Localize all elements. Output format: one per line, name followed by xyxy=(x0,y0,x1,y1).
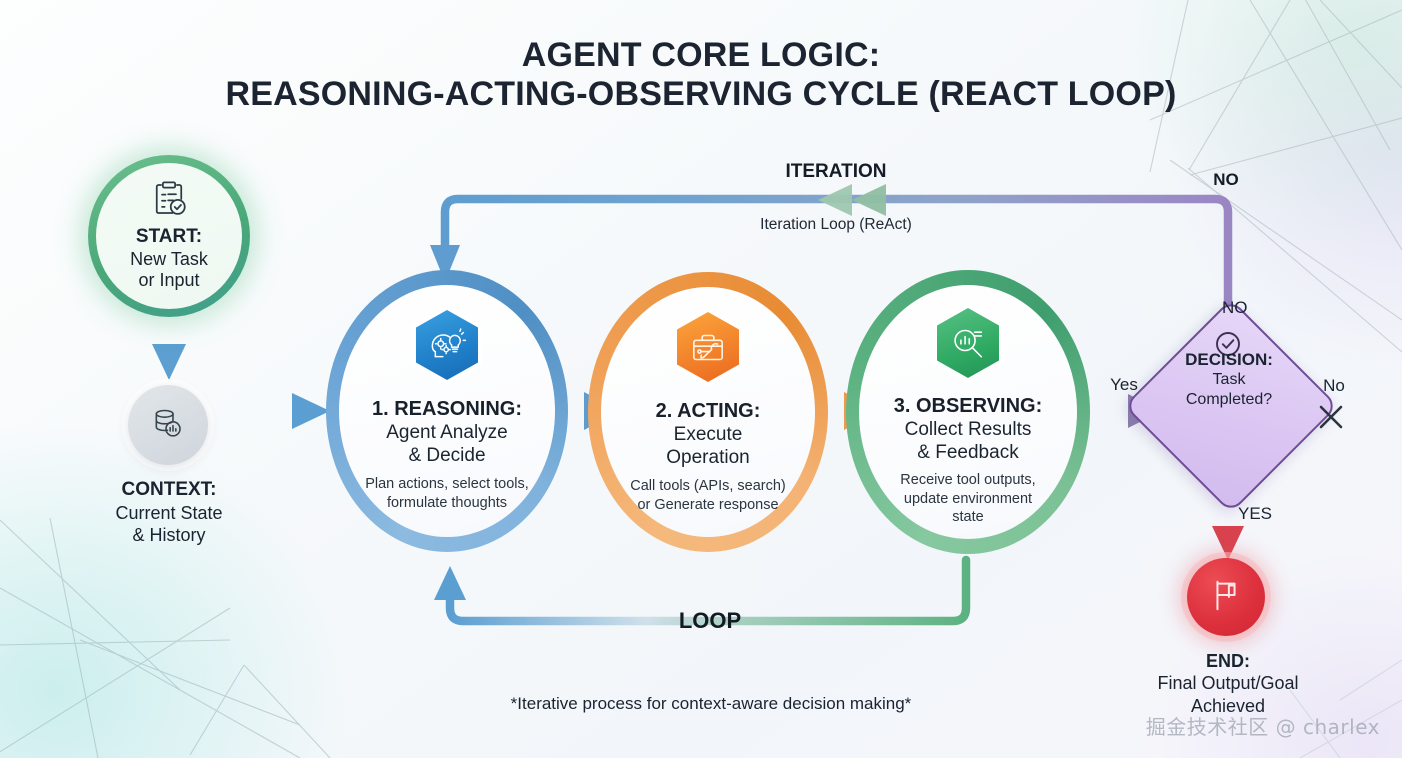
reasoning-desc-1: Plan actions, select tools, xyxy=(365,475,529,494)
no-right-label: No xyxy=(1305,376,1363,396)
acting-title: 2. ACTING: xyxy=(656,399,761,423)
acting-sub-2: Operation xyxy=(666,446,749,469)
context-line-1: Current State xyxy=(28,502,310,525)
context-line-2: & History xyxy=(28,524,310,547)
end-node-caption: END: Final Output/Goal Achieved xyxy=(1098,650,1358,717)
decision-heading: DECISION: xyxy=(1145,350,1313,370)
observing-sub-2: & Feedback xyxy=(917,441,1018,464)
acting-desc-2: or Generate response xyxy=(637,496,778,515)
context-node-caption: CONTEXT: Current State & History xyxy=(28,478,310,547)
clipboard-check-icon xyxy=(148,178,190,225)
iteration-sublabel: Iteration Loop (ReAct) xyxy=(700,216,972,234)
flag-icon xyxy=(1207,576,1245,619)
watermark: 掘金技术社区 @ charlex xyxy=(1080,711,1380,740)
acting-icon-frame xyxy=(672,307,744,387)
stage-reasoning[interactable]: 1. REASONING: Agent Analyze & Decide Pla… xyxy=(326,270,568,552)
footer-note: *Iterative process for context-aware dec… xyxy=(401,694,1021,714)
context-node[interactable] xyxy=(128,385,208,465)
magnifier-chart-icon xyxy=(937,308,999,378)
no-top-label: NO xyxy=(1178,170,1274,190)
yes-left-label: Yes xyxy=(1095,375,1153,395)
context-heading: CONTEXT: xyxy=(28,478,310,502)
observing-title: 3. OBSERVING: xyxy=(894,394,1043,418)
stage-observing[interactable]: 3. OBSERVING: Collect Results & Feedback… xyxy=(846,270,1090,554)
iteration-label: ITERATION xyxy=(720,161,952,183)
x-cross-icon xyxy=(1316,402,1346,437)
observing-sub-1: Collect Results xyxy=(905,418,1032,441)
no-mid-label: NO xyxy=(1222,298,1294,318)
start-node-label: START: New Task or Input xyxy=(130,226,208,292)
loop-label: LOOP xyxy=(610,608,810,634)
reasoning-title: 1. REASONING: xyxy=(372,397,522,421)
start-heading: START: xyxy=(130,226,208,249)
observing-desc-3: state xyxy=(952,508,983,527)
end-line-1: Final Output/Goal xyxy=(1098,672,1358,694)
reasoning-ring-face: 1. REASONING: Agent Analyze & Decide Pla… xyxy=(339,285,555,537)
title-line-2: REASONING-ACTING-OBSERVING CYCLE (REACT … xyxy=(0,75,1402,114)
acting-desc-1: Call tools (APIs, search) xyxy=(630,477,786,496)
acting-sub-1: Execute xyxy=(674,423,743,446)
observing-ring-face: 3. OBSERVING: Collect Results & Feedback… xyxy=(859,285,1077,539)
reasoning-desc-2: formulate thoughts xyxy=(387,494,507,513)
toolbox-wrench-icon xyxy=(677,312,739,382)
start-line-1: New Task xyxy=(130,249,208,271)
reasoning-sub-2: & Decide xyxy=(408,444,485,467)
decision-line-1: Task xyxy=(1145,370,1313,389)
observing-desc-1: Receive tool outputs, xyxy=(900,471,1035,490)
yes-bottom-label: YES xyxy=(1238,504,1302,524)
decision-line-2: Completed? xyxy=(1145,390,1313,409)
page-title: AGENT CORE LOGIC: REASONING-ACTING-OBSER… xyxy=(0,36,1402,115)
database-analytics-icon xyxy=(148,403,188,448)
stage-acting[interactable]: 2. ACTING: Execute Operation Call tools … xyxy=(588,272,828,552)
observing-icon-frame xyxy=(932,303,1004,383)
start-line-2: or Input xyxy=(130,270,208,292)
acting-ring-face: 2. ACTING: Execute Operation Call tools … xyxy=(601,287,815,537)
reasoning-icon-frame xyxy=(411,305,483,385)
reasoning-sub-1: Agent Analyze xyxy=(386,421,507,444)
observing-desc-2: update environment xyxy=(904,490,1032,509)
title-line-1: AGENT CORE LOGIC: xyxy=(0,36,1402,75)
diagram-canvas: AGENT CORE LOGIC: REASONING-ACTING-OBSER… xyxy=(0,0,1402,758)
decision-label: DECISION: Task Completed? xyxy=(1145,350,1313,409)
start-node[interactable]: START: New Task or Input xyxy=(88,155,250,317)
brain-head-gear-bulb-icon xyxy=(416,310,478,380)
end-node[interactable] xyxy=(1187,558,1265,636)
start-node-inner: START: New Task or Input xyxy=(96,163,242,309)
end-heading: END: xyxy=(1098,650,1358,672)
